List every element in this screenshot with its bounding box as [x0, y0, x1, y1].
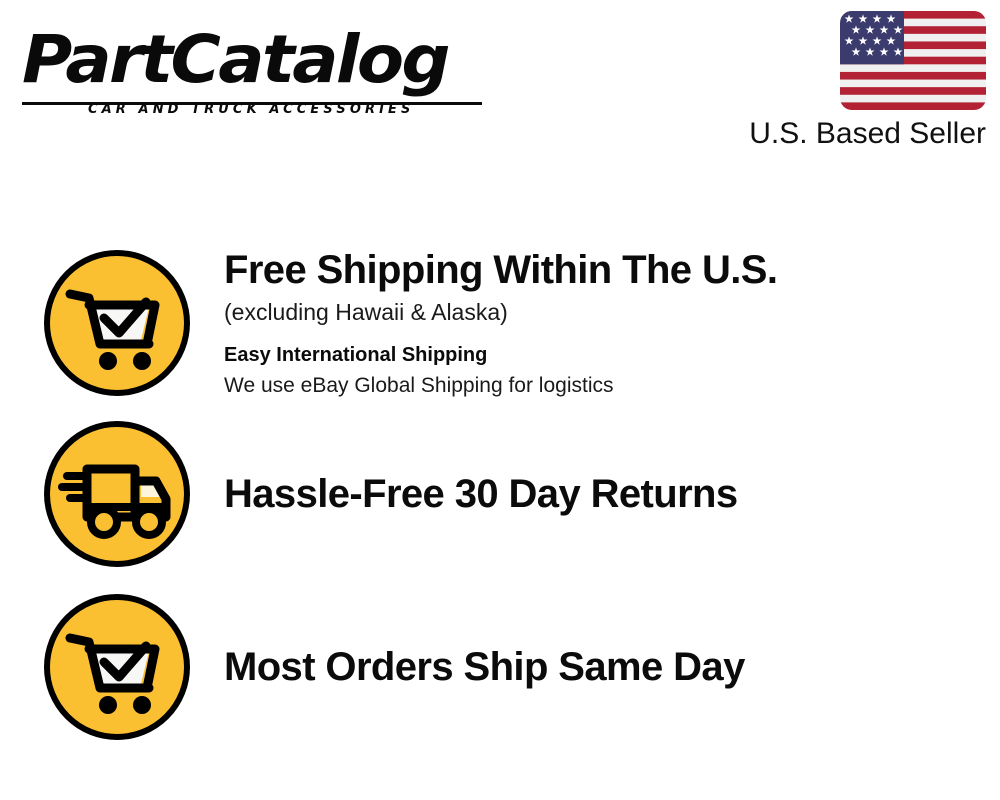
feature-row: Most Orders Ship Same Day: [0, 591, 1000, 743]
feature-row: Hassle-Free 30 Day Returns: [0, 417, 1000, 571]
feature-title: Most Orders Ship Same Day: [224, 643, 980, 691]
feature-text-block: Most Orders Ship Same Day: [224, 643, 1000, 691]
brand-wordmark: PartCatalog: [22, 18, 448, 102]
shopping-cart-check-icon: [42, 592, 192, 742]
feature-text-block: Hassle-Free 30 Day Returns: [224, 470, 1000, 518]
feature-note-line: We use eBay Global Shipping for logistic…: [224, 371, 980, 401]
page-header: PartCatalog CAR AND TRUCK ACCESSORIES: [0, 0, 1000, 160]
us-flag-icon: [840, 11, 986, 110]
feature-strong-line: Easy International Shipping: [224, 340, 980, 370]
feature-text-block: Free Shipping Within The U.S. (excluding…: [224, 246, 1000, 401]
shopping-cart-check-icon: [42, 248, 192, 398]
delivery-truck-icon: [42, 419, 192, 569]
brand-underline-rule: [22, 102, 482, 105]
feature-row: Free Shipping Within The U.S. (excluding…: [0, 245, 1000, 401]
feature-title: Free Shipping Within The U.S.: [224, 246, 980, 294]
feature-subtitle: (excluding Hawaii & Alaska): [224, 296, 980, 328]
feature-title: Hassle-Free 30 Day Returns: [224, 470, 980, 518]
us-based-seller-label: U.S. Based Seller: [560, 116, 986, 152]
